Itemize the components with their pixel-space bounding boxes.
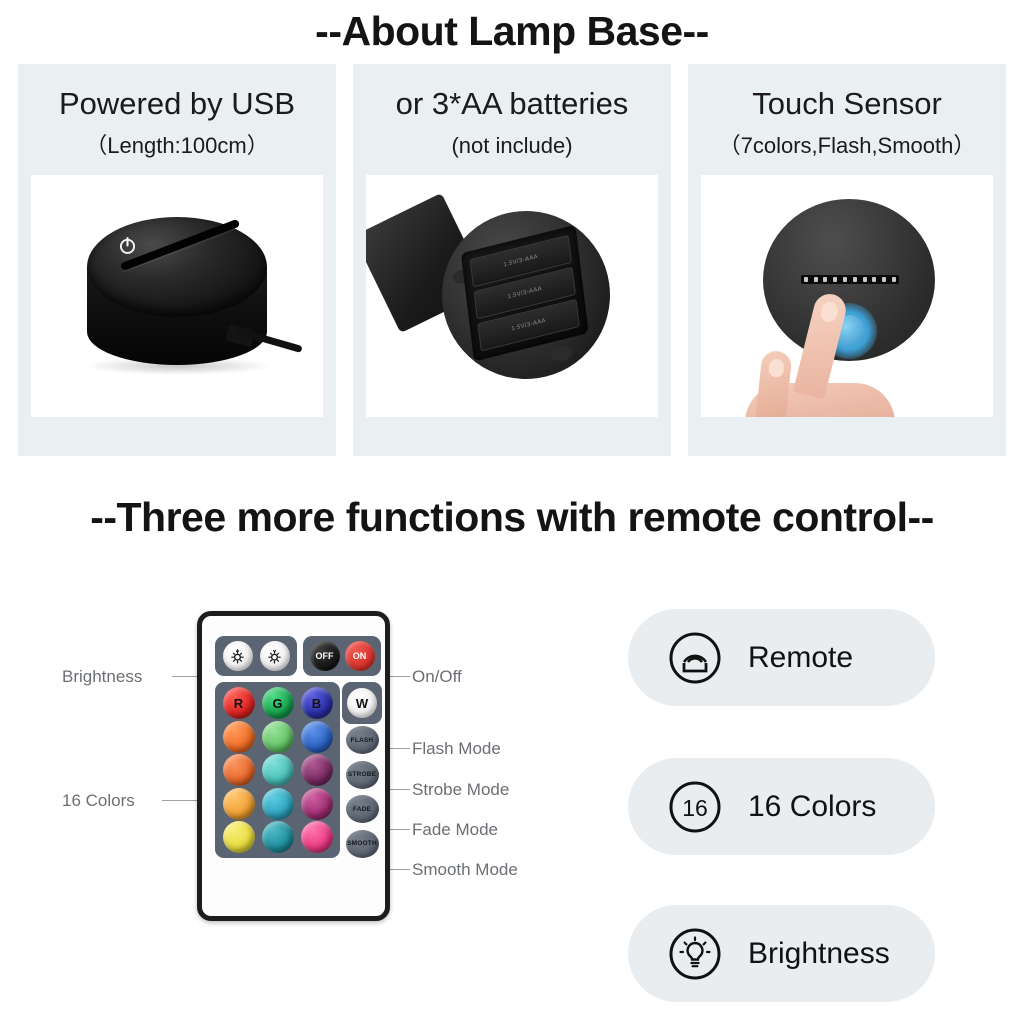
led-dot — [853, 277, 857, 282]
color-button-turquoise[interactable] — [262, 754, 294, 786]
lamp-base-battery-compartment-photo: 1.5V/3-AAA 1.5V/3-AAA 1.5V/3-AAA — [366, 175, 658, 417]
lamp-base-illustration — [31, 175, 323, 417]
led-dot — [892, 277, 896, 282]
about-lamp-base-heading: --About Lamp Base-- — [0, 8, 1024, 55]
led-dot — [843, 277, 847, 282]
panel-aa-batteries: or 3*AA batteries (not include) 1.5V/3-A… — [353, 64, 671, 456]
panel-touch-sensor: Touch Sensor （7colors,Flash,Smooth） — [688, 64, 1006, 456]
strobe-mode-button[interactable]: STROBE — [346, 761, 379, 789]
color-button-orange-2[interactable] — [223, 754, 255, 786]
touch-sensor-illustration — [701, 175, 993, 417]
panel-powered-by-usb: Powered by USB （Length:100cm） — [18, 64, 336, 456]
panel-title: Powered by USB — [59, 88, 295, 119]
bulb-brightness-icon — [668, 927, 722, 981]
remote-control[interactable]: OFF ON R G B W — [197, 611, 390, 921]
white-button-pad: W — [342, 682, 382, 724]
base-bottom-disc: 1.5V/3-AAA 1.5V/3-AAA 1.5V/3-AAA — [431, 200, 621, 390]
power-pad: OFF ON — [303, 636, 381, 676]
color-row — [219, 821, 336, 853]
lamp-base-touch-sensor-photo — [701, 175, 993, 417]
flash-mode-button[interactable]: FLASH — [346, 726, 379, 754]
brightness-up-button[interactable] — [223, 641, 253, 671]
sixteen-circle-icon: 16 — [668, 780, 722, 834]
on-button[interactable]: ON — [345, 641, 375, 671]
color-row — [219, 754, 336, 786]
color-button-pink[interactable] — [301, 821, 333, 853]
brightness-down-button[interactable] — [260, 641, 290, 671]
color-button-blue[interactable]: B — [301, 687, 333, 719]
feature-pill-16-colors: 16 16 Colors — [628, 758, 935, 855]
base-top-face — [87, 217, 267, 317]
off-button[interactable]: OFF — [310, 641, 340, 671]
color-button-cyan[interactable] — [262, 788, 294, 820]
color-row: R G B — [219, 687, 336, 719]
panel-title: Touch Sensor — [752, 88, 942, 119]
color-button-lightgreen[interactable] — [262, 721, 294, 753]
callout-leader-line — [388, 789, 410, 790]
color-button-teal[interactable] — [262, 821, 294, 853]
power-symbol-icon — [117, 235, 138, 256]
color-button-orange-1[interactable] — [223, 721, 255, 753]
color-button-grid: R G B — [215, 682, 340, 858]
color-row — [219, 788, 336, 820]
callout-leader-line — [388, 748, 410, 749]
color-button-amber[interactable] — [223, 788, 255, 820]
callout-fade-mode-label: Fade Mode — [412, 821, 498, 838]
panel-subtitle: （Length:100cm） — [85, 135, 268, 157]
fingernail — [768, 358, 785, 377]
color-button-yellow[interactable] — [223, 821, 255, 853]
callout-flash-mode-label: Flash Mode — [412, 740, 501, 757]
panel-subtitle: (not include) — [451, 135, 572, 157]
panel-subtitle: （7colors,Flash,Smooth） — [719, 135, 976, 157]
feature-label: Remote — [748, 641, 853, 675]
base-top-disc — [763, 199, 935, 361]
callout-strobe-mode-label: Strobe Mode — [412, 781, 509, 798]
color-button-blue-2[interactable] — [301, 721, 333, 753]
remote-top-row: OFF ON — [215, 636, 381, 676]
color-button-purple-1[interactable] — [301, 754, 333, 786]
led-strip-slot — [801, 275, 899, 284]
color-button-white[interactable]: W — [347, 688, 377, 718]
led-dot — [804, 277, 808, 282]
feature-pill-remote: Remote — [628, 609, 935, 706]
callout-brightness-label: Brightness — [62, 668, 142, 685]
lamp-base-usb-photo — [31, 175, 323, 417]
led-dot — [872, 277, 876, 282]
feature-label: 16 Colors — [748, 790, 876, 824]
feature-label: Brightness — [748, 937, 890, 971]
led-dot — [833, 277, 837, 282]
callout-onoff-label: On/Off — [412, 668, 462, 685]
mode-button-column: FLASH STROBE FADE SMOOTH — [342, 726, 382, 858]
led-dot — [882, 277, 886, 282]
svg-text:16: 16 — [682, 795, 708, 821]
callout-leader-line — [388, 676, 410, 677]
panel-title: or 3*AA batteries — [396, 88, 629, 119]
battery-well: 1.5V/3-AAA 1.5V/3-AAA 1.5V/3-AAA — [461, 225, 589, 362]
brightness-up-icon — [229, 648, 246, 665]
callout-smooth-mode-label: Smooth Mode — [412, 861, 518, 878]
brightness-down-icon — [266, 648, 283, 665]
feature-pill-brightness: Brightness — [628, 905, 935, 1002]
color-button-red[interactable]: R — [223, 687, 255, 719]
fingernail — [819, 300, 839, 323]
smooth-mode-button[interactable]: SMOOTH — [346, 830, 379, 858]
remote-functions-heading: --Three more functions with remote contr… — [0, 494, 1024, 541]
color-row — [219, 721, 336, 753]
brightness-pad — [215, 636, 297, 676]
led-dot — [823, 277, 827, 282]
color-button-green[interactable]: G — [262, 687, 294, 719]
rubber-foot — [550, 345, 574, 362]
callout-leader-line — [388, 869, 410, 870]
lamp-base-panels: Powered by USB （Length:100cm） or 3*AA — [18, 64, 1006, 456]
battery-base-illustration: 1.5V/3-AAA 1.5V/3-AAA 1.5V/3-AAA — [366, 175, 658, 417]
remote-signal-icon — [668, 631, 722, 685]
fade-mode-button[interactable]: FADE — [346, 795, 379, 823]
led-dot — [814, 277, 818, 282]
callout-16colors-label: 16 Colors — [62, 792, 135, 809]
led-dot — [863, 277, 867, 282]
callout-leader-line — [388, 829, 410, 830]
color-button-purple-2[interactable] — [301, 788, 333, 820]
